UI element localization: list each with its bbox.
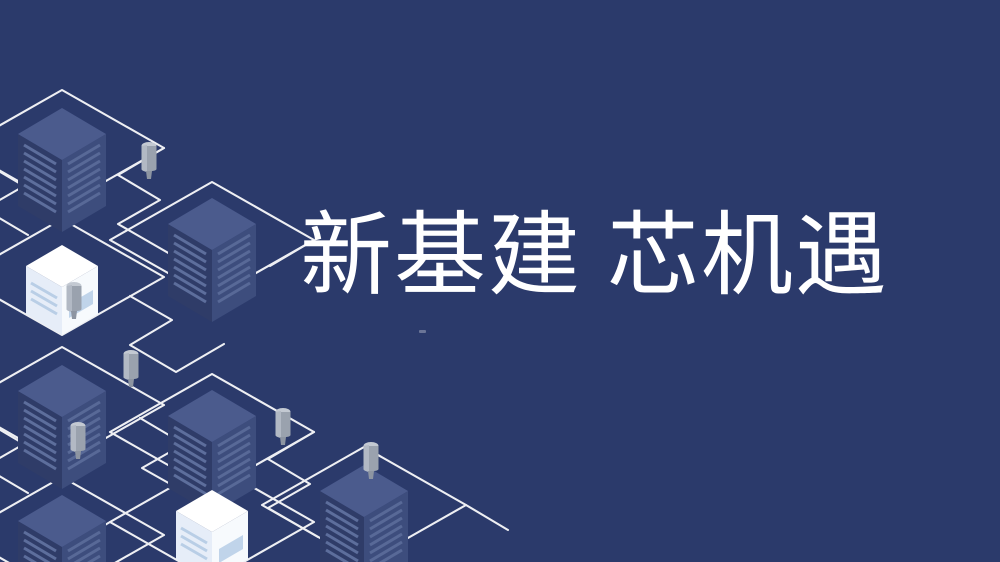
title-block: 新基建 芯机遇 <box>300 196 900 316</box>
server-rack <box>168 198 256 322</box>
presentation-slide: 新基建 芯机遇 <box>0 0 1000 562</box>
subtitle-dot-mark <box>419 330 426 333</box>
server-rack <box>18 108 106 232</box>
server-rack <box>18 365 106 489</box>
page-title: 新基建 芯机遇 <box>300 208 889 305</box>
